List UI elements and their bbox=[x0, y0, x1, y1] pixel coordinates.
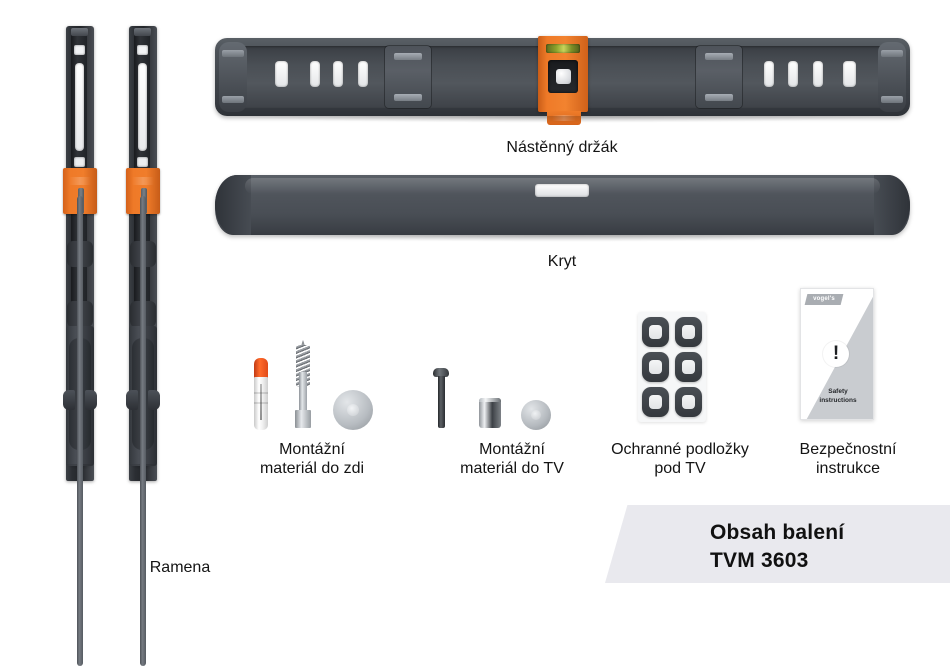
bracket-slot bbox=[788, 61, 798, 87]
bracket-slot bbox=[358, 61, 368, 87]
bracket-plate-right bbox=[696, 46, 742, 108]
cover-illustration bbox=[215, 175, 910, 237]
vogels-logo-icon: vogel's bbox=[805, 294, 844, 305]
wall-bracket-label: Nástěnný držák bbox=[472, 138, 652, 157]
arm-top-notch bbox=[71, 28, 88, 36]
title-banner: Obsah balení TVM 3603 bbox=[605, 505, 950, 583]
vogels-logo-icon bbox=[132, 177, 154, 185]
spacer-sleeve-icon bbox=[479, 398, 501, 428]
pad-hole bbox=[649, 360, 662, 374]
arm-top-notch bbox=[134, 28, 151, 36]
screw-head bbox=[295, 410, 311, 428]
wall-hardware-illustration bbox=[245, 340, 380, 430]
wall-plug-icon bbox=[253, 358, 269, 430]
arm-long-slot bbox=[75, 63, 84, 151]
bracket-plate-pin bbox=[394, 94, 422, 101]
lag-screw-icon bbox=[293, 340, 313, 432]
tv-hardware-label: Montážní materiál do TV bbox=[428, 440, 596, 478]
safety-booklet-illustration: vogel's ! Safety instructions bbox=[800, 288, 872, 418]
pad-item bbox=[675, 387, 702, 417]
pad-hole bbox=[682, 360, 695, 374]
cover-shadow bbox=[235, 235, 890, 242]
bracket-screw-tab bbox=[881, 50, 903, 57]
washer-hole bbox=[347, 404, 359, 416]
tv-hardware-illustration bbox=[425, 360, 555, 430]
tv-washer-icon bbox=[521, 400, 551, 430]
level-bubble-icon bbox=[556, 69, 571, 84]
bracket-slot bbox=[275, 61, 288, 87]
vogels-logo-icon bbox=[69, 177, 91, 185]
protective-pads-illustration bbox=[638, 312, 706, 422]
bracket-slot bbox=[813, 61, 823, 87]
pad-hole bbox=[682, 325, 695, 339]
bracket-screw-tab bbox=[222, 50, 244, 57]
pad-item bbox=[675, 317, 702, 347]
banner-title: Obsah balení TVM 3603 bbox=[710, 519, 844, 575]
warning-icon: ! bbox=[823, 341, 849, 367]
bracket-slot bbox=[310, 61, 320, 87]
arm-right bbox=[125, 26, 161, 486]
bracket-plate-pin bbox=[705, 94, 733, 101]
wall-hardware-label: Montážní materiál do zdi bbox=[228, 440, 396, 478]
bolt-shaft bbox=[438, 376, 445, 428]
bracket-slot bbox=[843, 61, 856, 87]
bracket-center-window bbox=[548, 60, 578, 93]
bracket-slot bbox=[333, 61, 343, 87]
arm-bottom-ear-right bbox=[85, 390, 97, 410]
cover-notch bbox=[535, 184, 589, 197]
pad-hole bbox=[682, 395, 695, 409]
tv-bolt-icon bbox=[433, 368, 449, 428]
bracket-screw-tab bbox=[881, 96, 903, 103]
arm-bottom-ear-left bbox=[63, 390, 75, 410]
wall-bracket-illustration bbox=[215, 38, 910, 116]
pad-item bbox=[642, 352, 669, 382]
bracket-plate-pin bbox=[394, 53, 422, 60]
arm-rod bbox=[77, 196, 83, 666]
vogels-logo-text: vogel's bbox=[806, 294, 842, 305]
bracket-slot bbox=[764, 61, 774, 87]
arm-square-hole-mid bbox=[137, 157, 148, 167]
pad-item bbox=[642, 387, 669, 417]
bracket-center-orange-block bbox=[538, 36, 588, 112]
wall-washer-icon bbox=[333, 390, 373, 430]
arm-bottom-ear-left bbox=[126, 390, 138, 410]
pad-hole bbox=[649, 325, 662, 339]
bracket-screw-tab bbox=[222, 96, 244, 103]
arms-label: Ramena bbox=[120, 558, 240, 577]
arm-left bbox=[62, 26, 98, 486]
washer-hole bbox=[531, 410, 541, 420]
wall-plug-ring bbox=[254, 402, 268, 404]
screw-shaft bbox=[299, 372, 307, 412]
booklet-cover-text: Safety instructions bbox=[807, 387, 869, 405]
spacer-rim bbox=[479, 398, 501, 402]
arm-rod bbox=[140, 196, 146, 666]
pad-item bbox=[675, 352, 702, 382]
bubble-level-icon bbox=[546, 44, 580, 53]
arm-square-hole-mid bbox=[74, 157, 85, 167]
arm-square-hole-top bbox=[74, 45, 85, 55]
spacer-tube bbox=[479, 398, 501, 428]
bracket-plate-pin bbox=[705, 53, 733, 60]
arm-square-hole-top bbox=[137, 45, 148, 55]
wall-plug-ring bbox=[254, 392, 268, 394]
arm-long-slot bbox=[138, 63, 147, 151]
bracket-plate-left bbox=[385, 46, 431, 108]
warning-glyph: ! bbox=[823, 341, 849, 367]
arm-bottom-ear-right bbox=[148, 390, 160, 410]
booklet-page: vogel's ! Safety instructions bbox=[800, 288, 874, 420]
pads-label: Ochranné podložky pod TV bbox=[590, 440, 770, 478]
packaging-contents-diagram: Ramena bbox=[0, 0, 950, 672]
bracket-shadow bbox=[225, 116, 900, 123]
pad-item bbox=[642, 317, 669, 347]
pad-hole bbox=[649, 395, 662, 409]
cover-label: Kryt bbox=[512, 252, 612, 271]
safety-label: Bezpečnostní instrukce bbox=[778, 440, 918, 478]
